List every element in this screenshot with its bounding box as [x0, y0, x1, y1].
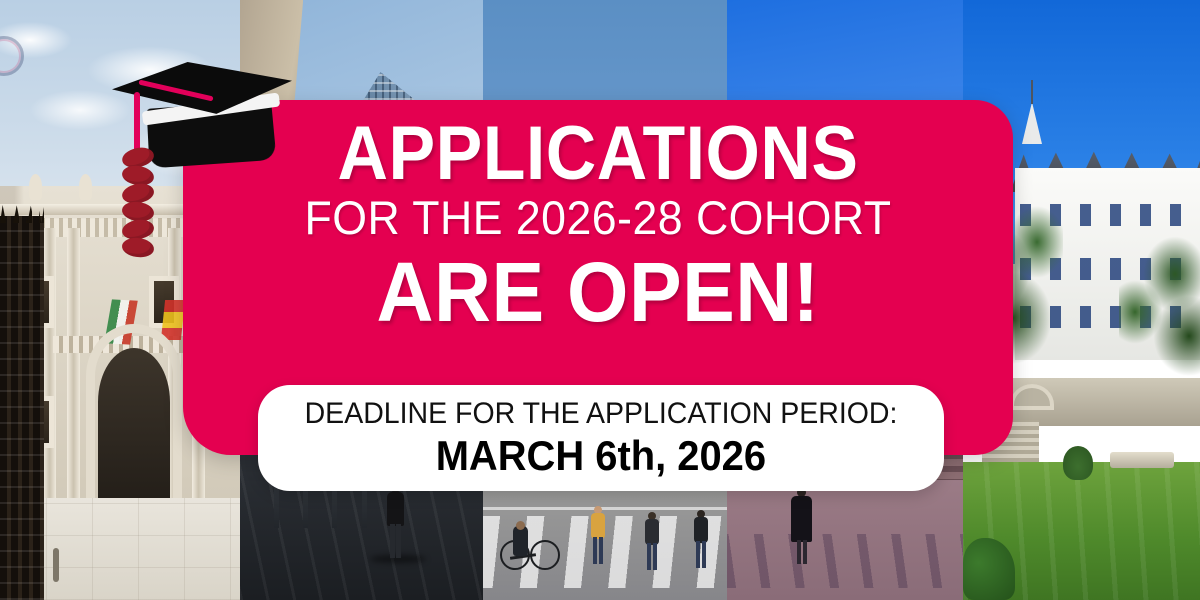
graduation-gown — [791, 496, 812, 542]
person-legs — [390, 524, 401, 558]
plaza-bollard — [53, 548, 59, 582]
person-legs — [696, 541, 706, 568]
roof-finial — [29, 174, 42, 200]
person-on-bicycle — [500, 522, 558, 570]
tassel-coil — [121, 236, 155, 259]
person-body — [645, 519, 659, 545]
person-body — [694, 517, 708, 543]
graduate-in-gown — [793, 488, 810, 564]
student-walking — [693, 510, 709, 564]
graduation-cap-icon — [112, 62, 312, 182]
person-legs — [647, 543, 657, 570]
cyclist-head — [516, 521, 525, 530]
person-body — [387, 492, 404, 526]
student-walking — [590, 506, 606, 564]
tassel-icon — [122, 148, 156, 268]
facade-column — [67, 228, 80, 498]
person-body — [591, 513, 605, 539]
tassel-cord-vertical — [134, 92, 140, 152]
person-legs — [593, 537, 603, 564]
facade-column — [43, 228, 56, 498]
person-legs — [797, 540, 807, 564]
garden-fountain — [1110, 452, 1174, 468]
ornate-iron-gate — [0, 216, 44, 600]
deadline-date: MARCH 6th, 2026 — [436, 432, 766, 479]
garden-shrub — [1063, 446, 1093, 480]
deadline-box: DEADLINE FOR THE APPLICATION PERIOD: MAR… — [258, 385, 944, 491]
roof-finial — [79, 174, 92, 200]
garden-trees-right — [1119, 216, 1200, 456]
entrance-archway — [98, 348, 170, 498]
deadline-label: DEADLINE FOR THE APPLICATION PERIOD: — [305, 397, 898, 430]
plaza-shadows — [727, 534, 963, 588]
cyclist-body — [513, 526, 528, 556]
person-walking — [386, 484, 405, 558]
chateau-spire — [1022, 102, 1042, 144]
announcement-banner: APPLICATIONS FOR THE 2026-28 COHORT ARE … — [0, 0, 1200, 600]
student-walking — [644, 512, 660, 564]
